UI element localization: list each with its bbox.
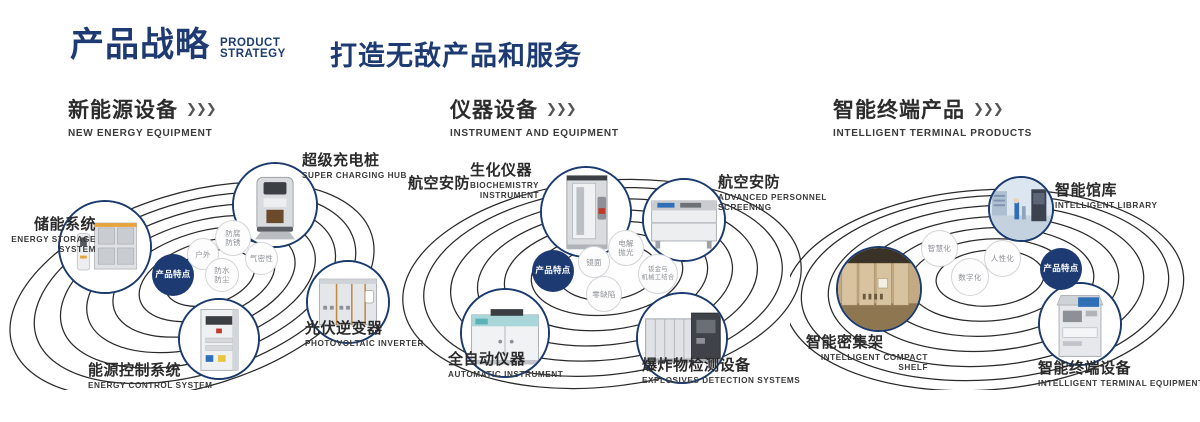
- section-heading-cn: 新能源设备: [68, 94, 178, 124]
- node-label-en-line2: INSTRUMENT: [470, 191, 539, 201]
- feature-label-line1: 电解: [618, 239, 634, 248]
- node-label-explosives-detection-system: 爆炸物检测设备 EXPLOSIVES DETECTION SYSTEMS: [642, 357, 800, 386]
- feature-bubble-waterproof[interactable]: 防水 防尘: [205, 258, 239, 292]
- advanced-personnel-screening-photo: [644, 180, 724, 260]
- node-label-aviation-security-left: 航空安防: [408, 175, 470, 192]
- intelligent-library-photo: [990, 178, 1052, 240]
- section-heading-en: INTELLIGENT TERMINAL PRODUCTS: [833, 128, 1032, 139]
- node-label-cn: 智能密集架: [806, 334, 928, 351]
- feature-label: 零缺陷: [592, 290, 615, 299]
- product-node-intelligent-library[interactable]: [988, 176, 1054, 242]
- page-subtitle: 打造无敌产品和服务: [330, 34, 582, 73]
- node-label-en-line1: INTELLIGENT TERMINAL EQUIPMENT: [1038, 379, 1200, 389]
- feature-label-line1: 防水: [214, 266, 230, 275]
- page-title: 产品战略 PRODUCT STRATEGY: [70, 28, 286, 62]
- feature-bubble-humanized[interactable]: 人性化: [984, 240, 1021, 277]
- node-label-en-line1: ENERGY CONTROL SYSTEM: [88, 381, 213, 391]
- node-label-energy-storage: 储能系统 ENERGY STORAGE SYSTEM: [0, 216, 96, 255]
- feature-label: 钣金与 机械工结合: [642, 266, 675, 282]
- product-node-intelligent-terminal-equipment[interactable]: [1038, 282, 1122, 366]
- chevron-right-icon: ❯❯❯: [186, 101, 216, 117]
- feature-label: 电解 抛光: [618, 239, 634, 257]
- page-title-cn: 产品战略: [70, 28, 210, 62]
- node-label-cn: 超级充电桩: [302, 152, 407, 169]
- node-label-en-line1: SUPER CHARGING HUB: [302, 171, 407, 181]
- product-node-advanced-personnel-screening[interactable]: [642, 178, 726, 262]
- feature-bubble-electropolishing[interactable]: 电解 抛光: [608, 230, 644, 266]
- node-label-cn: 航空安防: [408, 175, 470, 192]
- feature-label-line2: 机械工结合: [642, 274, 675, 281]
- page-title-en-line2: STRATEGY: [220, 49, 286, 60]
- node-label-cn: 全自动仪器: [448, 351, 563, 368]
- feature-label-line2: 抛光: [618, 248, 634, 257]
- feature-label-line2: 防尘: [214, 275, 230, 284]
- node-label-cn: 能源控制系统: [88, 362, 213, 379]
- feature-label: 防水 防尘: [214, 266, 230, 284]
- node-label-intelligent-terminal-equipment: 智能终端设备 INTELLIGENT TERMINAL EQUIPMENT: [1038, 360, 1200, 389]
- feature-bubble-sheetmetal-machining[interactable]: 钣金与 机械工结合: [638, 254, 678, 294]
- feature-label-line2: 防锈: [225, 238, 241, 247]
- product-strategy-infographic: 产品战略 PRODUCT STRATEGY 打造无敌产品和服务 新能源设备❯❯❯…: [0, 0, 1200, 422]
- node-label-intelligent-compact-shelf: 智能密集架 INTELLIGENT COMPACT SHELF: [806, 334, 928, 373]
- section-heading-instrument: 仪器设备❯❯❯ INSTRUMENT AND EQUIPMENT: [450, 94, 619, 139]
- node-label-en-line1: INTELLIGENT COMPACT: [806, 353, 928, 363]
- feature-bubble-mirror[interactable]: 镜面: [578, 246, 610, 278]
- feature-bubble-core[interactable]: 产品特点: [532, 250, 574, 292]
- node-label-en-line1: AUTOMATIC INSTRUMENT: [448, 370, 563, 380]
- node-label-en-line1: ENERGY STORAGE: [0, 235, 96, 245]
- node-label-cn: 爆炸物检测设备: [642, 357, 800, 374]
- cluster-new-energy: 产品特点 户外 防腐 防锈 防水 防尘 气密性: [0, 150, 420, 390]
- node-label-en-line2: SHELF: [806, 363, 928, 373]
- feature-bubble-intelligent[interactable]: 智慧化: [921, 230, 958, 267]
- feature-bubble-core[interactable]: 产品特点: [1040, 248, 1082, 290]
- node-label-en-line1: INTELLIGENT LIBRARY: [1055, 201, 1157, 211]
- node-label-super-charging-hub: 超级充电桩 SUPER CHARGING HUB: [302, 152, 407, 181]
- feature-label: 户外: [195, 250, 211, 259]
- feature-label: 气密性: [250, 254, 273, 263]
- section-heading-en: NEW ENERGY EQUIPMENT: [68, 128, 216, 139]
- feature-core-label: 产品特点: [155, 270, 190, 280]
- node-label-biochemistry-instrument: 生化仪器 BIOCHEMISTRY INSTRUMENT: [470, 162, 539, 201]
- intelligent-terminal-equipment-photo: [1040, 284, 1120, 364]
- page-title-en: PRODUCT STRATEGY: [220, 38, 286, 60]
- node-label-en-line1: BIOCHEMISTRY: [470, 181, 539, 191]
- feature-label-line1: 防腐: [225, 229, 241, 238]
- feature-label-line1: 钣金与: [648, 266, 668, 273]
- feature-label: 防腐 防锈: [225, 229, 241, 247]
- chevron-right-icon: ❯❯❯: [973, 101, 1003, 117]
- intelligent-compact-shelf-photo: [838, 248, 920, 330]
- feature-label: 智慧化: [928, 244, 951, 253]
- node-label-en-line2: SYSTEM: [0, 245, 96, 255]
- feature-bubble-airtight[interactable]: 气密性: [245, 242, 278, 275]
- feature-label: 镜面: [586, 258, 602, 267]
- section-heading-cn: 智能终端产品: [833, 94, 965, 124]
- feature-core-label: 产品特点: [1043, 264, 1078, 274]
- node-label-cn: 生化仪器: [470, 162, 539, 179]
- section-heading-cn: 仪器设备: [450, 94, 538, 124]
- node-label-energy-control-system: 能源控制系统 ENERGY CONTROL SYSTEM: [88, 362, 213, 391]
- feature-label: 数字化: [958, 273, 981, 282]
- feature-bubble-digital[interactable]: 数字化: [951, 258, 989, 296]
- section-heading-new-energy: 新能源设备❯❯❯ NEW ENERGY EQUIPMENT: [68, 94, 216, 139]
- node-label-automatic-instrument: 全自动仪器 AUTOMATIC INSTRUMENT: [448, 351, 563, 380]
- node-label-en-line1: EXPLOSIVES DETECTION SYSTEMS: [642, 376, 800, 386]
- product-node-intelligent-compact-shelf[interactable]: [836, 246, 922, 332]
- node-label-cn: 智能馆库: [1055, 182, 1157, 199]
- node-label-cn: 储能系统: [0, 216, 96, 233]
- chevron-right-icon: ❯❯❯: [546, 101, 576, 117]
- node-label-intelligent-library: 智能馆库 INTELLIGENT LIBRARY: [1055, 182, 1157, 211]
- feature-label: 人性化: [991, 254, 1014, 263]
- feature-bubble-zero-defect[interactable]: 零缺陷: [586, 276, 622, 312]
- section-heading-en: INSTRUMENT AND EQUIPMENT: [450, 128, 619, 139]
- node-label-cn: 智能终端设备: [1038, 360, 1200, 377]
- section-heading-intelligent-terminal: 智能终端产品❯❯❯ INTELLIGENT TERMINAL PRODUCTS: [833, 94, 1032, 139]
- feature-core-label: 产品特点: [535, 266, 570, 276]
